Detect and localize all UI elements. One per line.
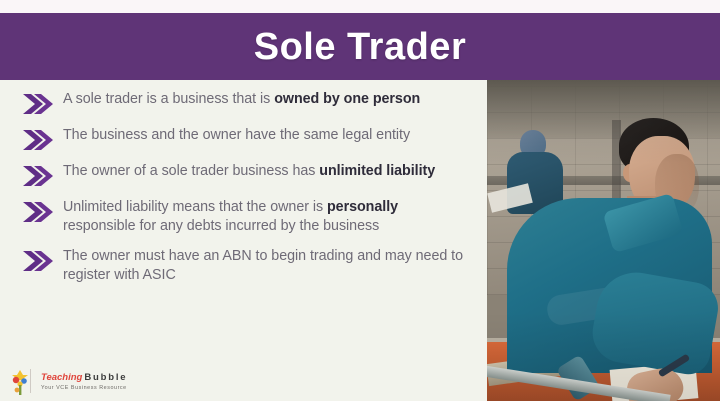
list-item: The owner must have an ABN to begin trad… [22,247,471,285]
double-chevron-right-icon [22,250,54,272]
teaching-bubble-logo-icon [11,369,30,396]
list-item-text: The owner of a sole trader business has … [63,162,435,181]
page-title: Sole Trader [254,28,466,66]
logo-divider [30,369,31,393]
list-item-text: Unlimited liability means that the owner… [63,198,471,236]
double-chevron-right-icon [22,201,54,223]
list-item: The business and the owner have the same… [22,126,471,151]
list-item-text: The business and the owner have the same… [63,126,410,145]
double-chevron-right-icon [22,129,54,151]
double-chevron-right-icon [22,165,54,187]
bullet-list: A sole trader is a business that is owne… [22,90,471,285]
workshop-photo [487,80,720,401]
list-item: A sole trader is a business that is owne… [22,90,471,115]
content-panel: A sole trader is a business that is owne… [0,80,487,401]
list-item: The owner of a sole trader business has … [22,162,471,187]
double-chevron-right-icon [22,93,54,115]
footer-logo: TeachingBubble Your VCE Business Resourc… [11,367,127,397]
list-item-text: The owner must have an ABN to begin trad… [63,247,471,285]
list-item: Unlimited liability means that the owner… [22,198,471,236]
logo-brand-first: Teaching [41,372,82,383]
list-item-text: A sole trader is a business that is owne… [63,90,420,109]
title-band: Sole Trader [0,13,720,80]
logo-brand-second: Bubble [84,372,127,383]
logo-tagline: Your VCE Business Resource [41,386,127,391]
slide: Sole Trader A sole trader is a business … [0,0,720,404]
top-margin-strip [0,0,720,13]
logo-wordmark: TeachingBubble Your VCE Business Resourc… [41,373,127,391]
